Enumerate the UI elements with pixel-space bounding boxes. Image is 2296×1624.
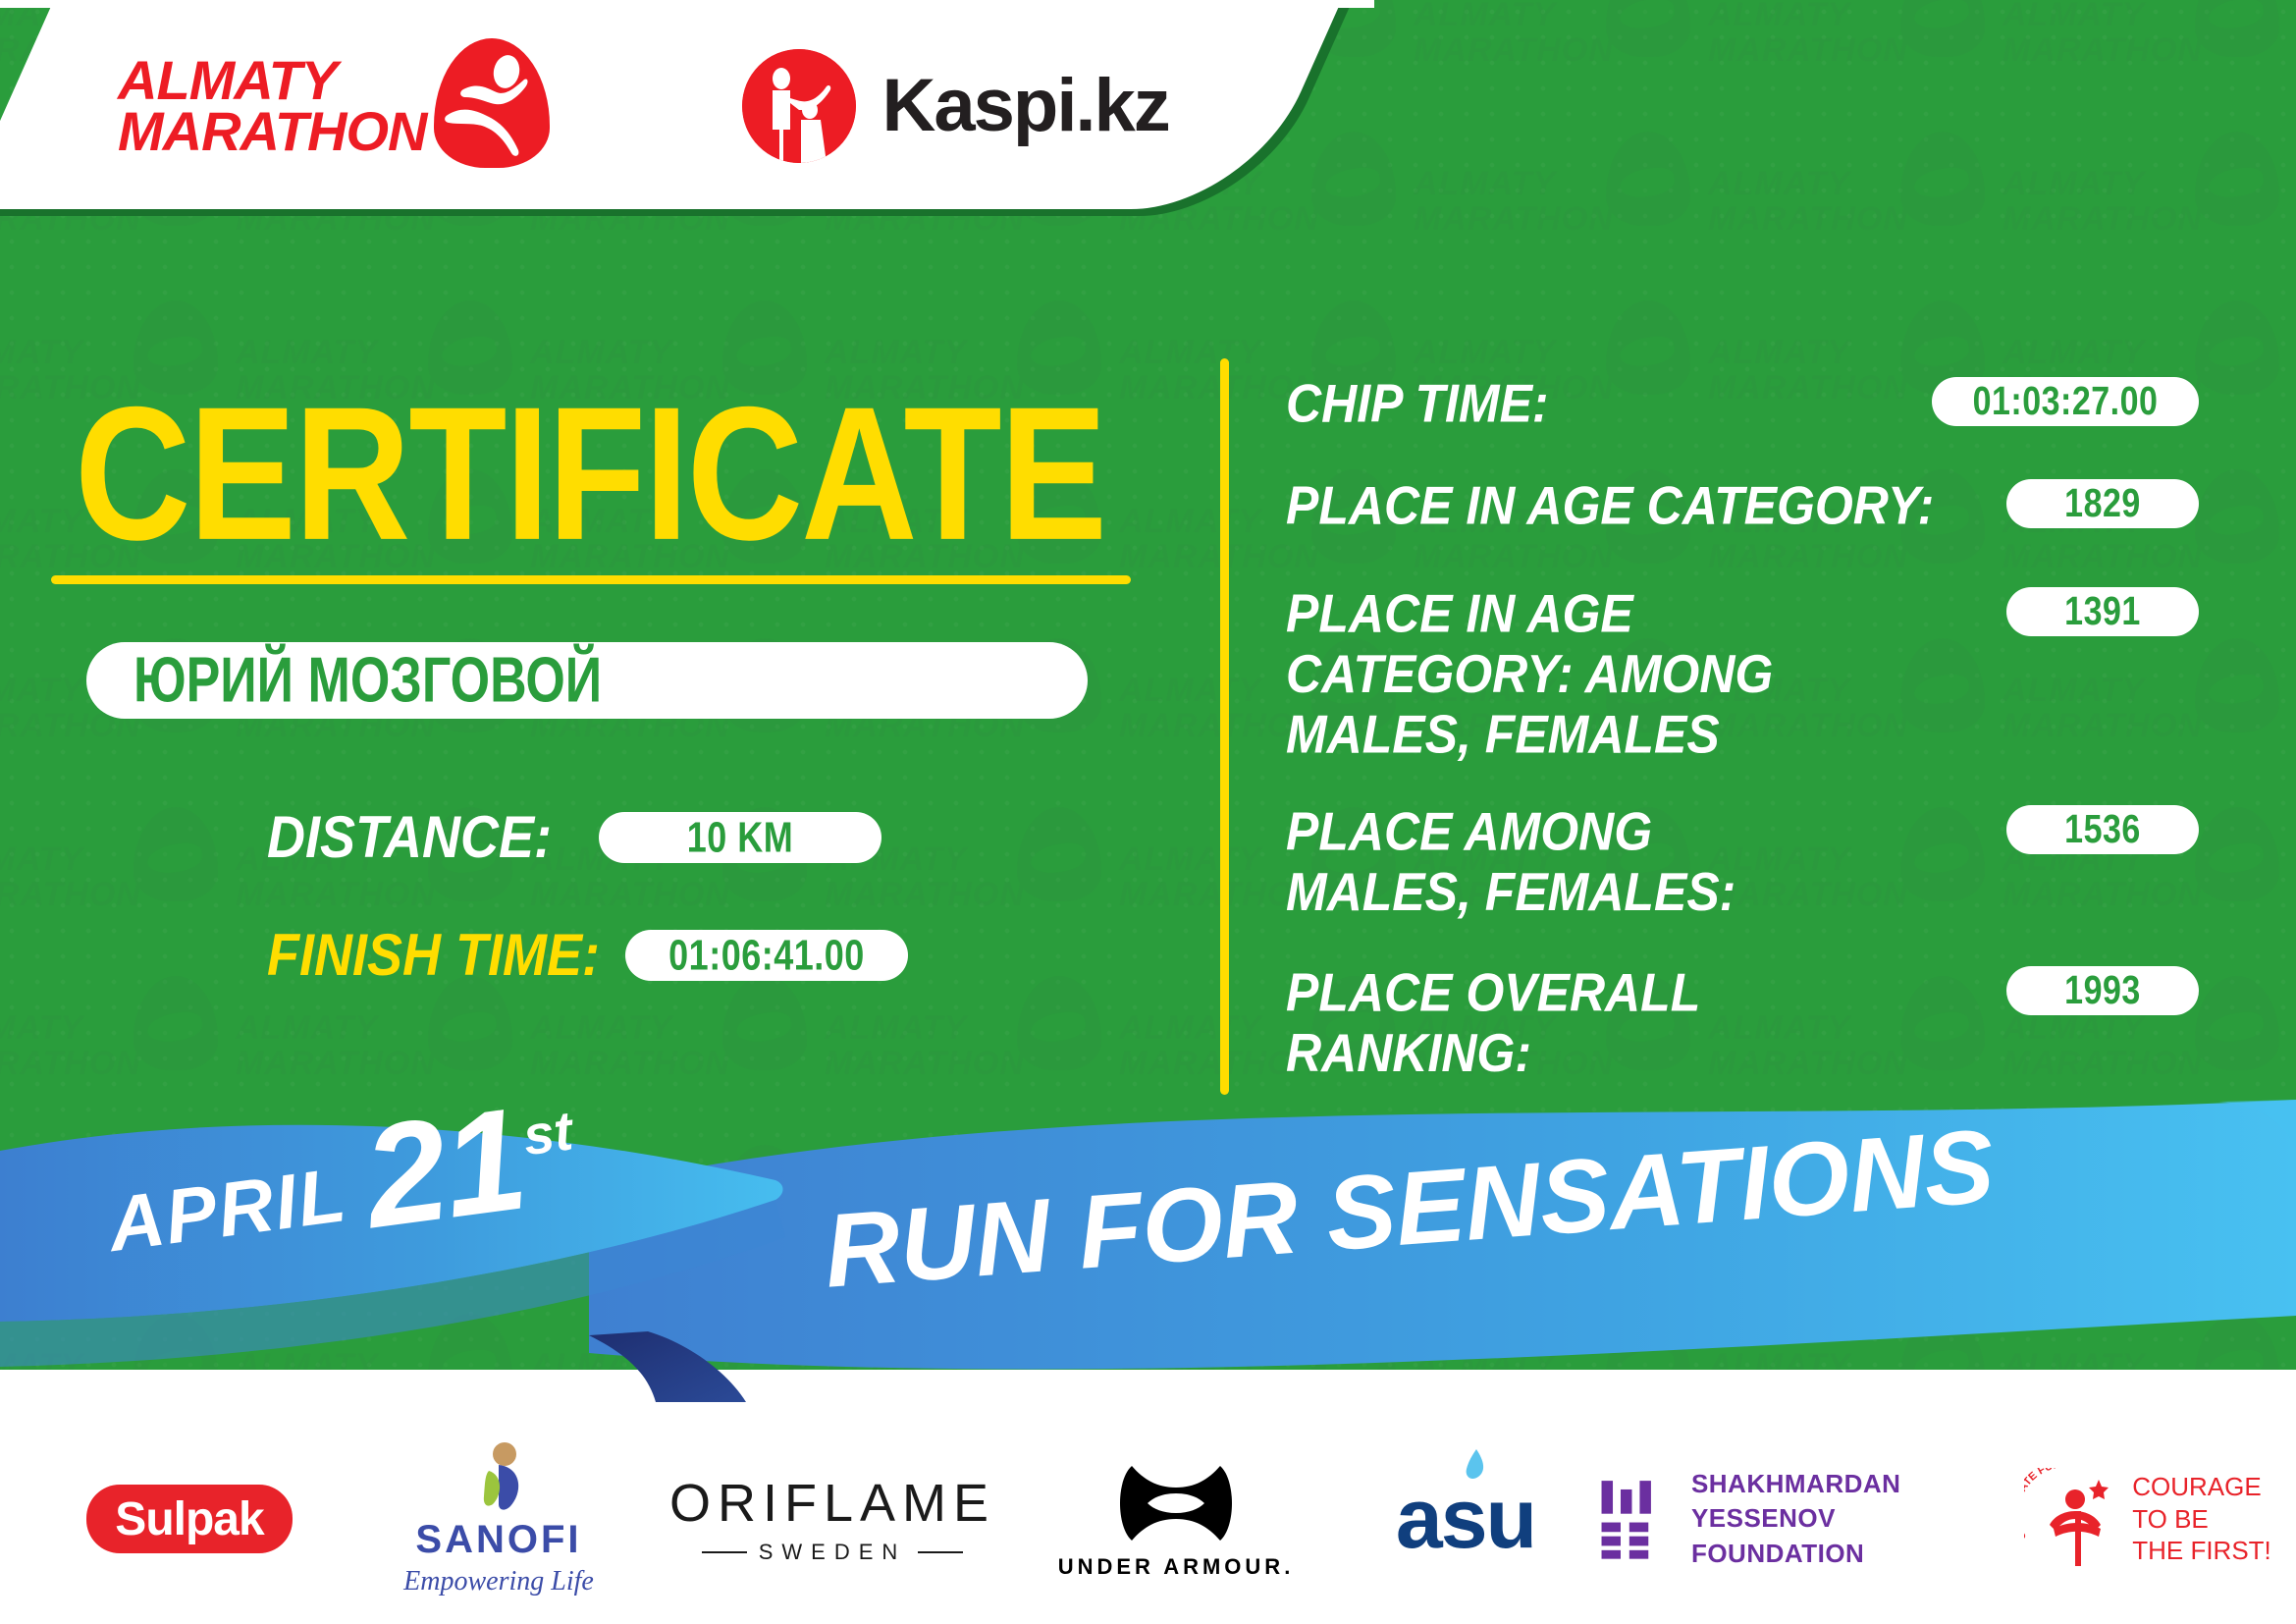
kaspi-logo: Kaspi.kz	[742, 49, 1168, 163]
sanofi-logo: SANOFI Empowering Life	[403, 1441, 594, 1597]
watermark-tile: ALMATYMARATHON	[1708, 130, 2002, 277]
sponsor-sulpak: Sulpak	[27, 1485, 351, 1553]
place-among-gender-label: PLACE AMONG MALES, FEMALES:	[1286, 801, 1836, 922]
watermark-tile: ALMATYMARATHON	[0, 805, 236, 952]
watermark-tile: ALMATYMARATHON	[1414, 130, 1708, 277]
watermark-line1: ALMATY	[1119, 840, 1261, 879]
under-armour-icon	[1102, 1458, 1250, 1548]
watermark-line2: MARATHON	[2002, 200, 2203, 239]
sponsor-courage-fund: CORPORATE FUND COURAGE TO BE THE FIRST!	[2010, 1468, 2285, 1570]
watermark-line1: ALMATY	[1119, 1009, 1261, 1048]
watermark-line1: ALMATY	[0, 334, 83, 372]
distance-value-pill: 10 KM	[599, 812, 881, 863]
watermark-drop-icon	[133, 976, 218, 1070]
chip-time-value-pill: 01:03:27.00	[1932, 377, 2199, 426]
watermark-tile: ALMATYMARATHON	[2002, 0, 2296, 108]
almaty-marathon-line1: ALMATY	[118, 55, 426, 106]
distance-label: DISTANCE:	[267, 803, 552, 871]
certificate-page: ALMATYMARATHONALMATYMARATHONALMATYMARATH…	[0, 0, 2296, 1624]
watermark-line1: ALMATY	[236, 334, 378, 372]
watermark-line2: MARATHON	[530, 1045, 730, 1083]
watermark-line1: ALMATY	[1708, 0, 1850, 34]
title-underline	[51, 575, 1131, 584]
yessenov-foundation-logo: SHAKHMARDAN YESSENOV FOUNDATION	[1598, 1467, 2010, 1570]
watermark-drop-icon	[428, 976, 512, 1070]
oriflame-rule-left	[702, 1551, 747, 1553]
watermark-drop-icon	[1900, 0, 1985, 57]
asu-wordmark: asu	[1396, 1471, 1535, 1568]
stat-row: PLACE IN AGE CATEGORY: 1829	[1286, 475, 2199, 530]
ribbon-day: 21	[357, 1093, 531, 1243]
place-overall-value-pill: 1993	[2006, 966, 2199, 1015]
sponsor-asu: asu	[1333, 1471, 1598, 1568]
watermark-drop-icon	[2195, 300, 2279, 395]
page-title: CERTIFICATE	[75, 379, 1105, 569]
stat-row: CHIP TIME: 01:03:27.00	[1286, 373, 2199, 428]
watermark-drop-icon	[722, 976, 807, 1070]
watermark-line2: MARATHON	[825, 1045, 1025, 1083]
watermark-line1: ALMATY	[1708, 334, 1850, 372]
distance-value: 10 KM	[687, 813, 794, 862]
stat-row: PLACE IN AGE CATEGORY: AMONG MALES, FEMA…	[1286, 583, 2199, 748]
finish-time-row: FINISH TIME: 01:06:41.00	[267, 925, 908, 986]
watermark-line1: ALMATY	[1708, 165, 1850, 203]
place-among-gender-value-pill: 1536	[2006, 805, 2199, 854]
yessenov-wordmark: SHAKHMARDAN YESSENOV FOUNDATION	[1691, 1467, 2010, 1570]
watermark-line1: ALMATY	[1119, 334, 1261, 372]
watermark-line2: MARATHON	[236, 876, 436, 914]
watermark-line1: ALMATY	[1414, 334, 1556, 372]
column-divider	[1220, 358, 1229, 1095]
watermark-line2: MARATHON	[1414, 31, 1614, 70]
sponsor-under-armour: UNDER ARMOUR.	[1019, 1458, 1333, 1580]
watermark-line1: ALMATY	[0, 503, 83, 541]
place-age-category-gender-value-pill: 1391	[2006, 587, 2199, 636]
finish-time-label: FINISH TIME:	[267, 921, 600, 989]
courage-line1: COURAGE	[2132, 1471, 2271, 1503]
watermark-drop-icon	[2195, 976, 2279, 1070]
watermark-line1: ALMATY	[0, 840, 83, 879]
watermark-drop-icon	[1017, 976, 1101, 1070]
watermark-line2: MARATHON	[0, 876, 141, 914]
watermark-drop-icon	[2195, 807, 2279, 901]
oriflame-wordmark: ORIFLAME	[669, 1473, 995, 1534]
watermark-line1: ALMATY	[2002, 0, 2145, 34]
watermark-drop-icon	[1017, 807, 1101, 901]
place-age-category-value-pill: 1829	[2006, 479, 2199, 528]
watermark-line1: ALMATY	[0, 1009, 83, 1048]
watermark-drop-icon	[2195, 469, 2279, 564]
watermark-tile: ALMATYMARATHON	[1708, 0, 2002, 108]
watermark-drop-icon	[1606, 0, 1690, 57]
watermark-line1: ALMATY	[825, 1009, 967, 1048]
watermark-line1: ALMATY	[530, 1009, 672, 1048]
sponsor-bar: Sulpak SANOFI Empowering Life ORIFLAME S…	[0, 1414, 2296, 1624]
watermark-line1: ALMATY	[1414, 165, 1556, 203]
athlete-name-value: ЮРИЙ МОЗГОВОЙ	[133, 644, 602, 718]
yessenov-line1: SHAKHMARDAN YESSENOV	[1691, 1467, 2010, 1536]
sponsor-sanofi: SANOFI Empowering Life	[351, 1441, 646, 1597]
watermark-drop-icon	[133, 807, 218, 901]
watermark-line2: MARATHON	[0, 1045, 141, 1083]
oriflame-sub: SWEDEN	[702, 1540, 964, 1565]
sanofi-wordmark: SANOFI	[415, 1518, 581, 1562]
watermark-line2: MARATHON	[825, 876, 1025, 914]
yessenov-line2: FOUNDATION	[1691, 1537, 2010, 1571]
oriflame-rule-right	[918, 1551, 963, 1553]
watermark-line2: MARATHON	[236, 1045, 436, 1083]
watermark-line1: ALMATY	[236, 1009, 378, 1048]
courage-fund-icon: CORPORATE FUND	[2024, 1468, 2118, 1570]
watermark-drop-icon	[2195, 638, 2279, 732]
watermark-drop-icon	[1311, 132, 1396, 226]
watermark-drop-icon	[2195, 0, 2279, 57]
watermark-line1: ALMATY	[2002, 165, 2145, 203]
place-among-gender-value: 1536	[2064, 807, 2141, 853]
sanofi-tagline: Empowering Life	[403, 1566, 594, 1597]
asu-droplet-icon	[1459, 1449, 1488, 1483]
watermark-line2: MARATHON	[1414, 200, 1614, 239]
courage-fund-wordmark: COURAGE TO BE THE FIRST!	[2132, 1471, 2271, 1567]
courage-line2: TO BE	[2132, 1503, 2271, 1536]
stat-row: PLACE OVERALL RANKING: 1993	[1286, 962, 2199, 1072]
distance-row: DISTANCE: 10 KM	[267, 807, 881, 868]
yessenov-bars-icon	[1598, 1474, 1666, 1564]
asu-logo: asu	[1396, 1471, 1535, 1568]
athlete-name-field: ЮРИЙ МОЗГОВОЙ	[86, 642, 1088, 719]
watermark-line1: ALMATY	[825, 334, 967, 372]
watermark-line2: MARATHON	[2002, 31, 2203, 70]
finish-time-value-pill: 01:06:41.00	[625, 930, 908, 981]
almaty-marathon-line2: MARATHON	[118, 106, 426, 157]
sponsor-yessenov: SHAKHMARDAN YESSENOV FOUNDATION	[1598, 1467, 2010, 1570]
watermark-drop-icon	[1606, 132, 1690, 226]
watermark-line1: ALMATY	[530, 334, 672, 372]
place-age-category-gender-value: 1391	[2064, 589, 2141, 635]
watermark-line2: MARATHON	[530, 876, 730, 914]
place-age-category-label: PLACE IN AGE CATEGORY:	[1286, 475, 1934, 536]
under-armour-wordmark: UNDER ARMOUR.	[1058, 1554, 1295, 1580]
watermark-line1: ALMATY	[0, 672, 83, 710]
ribbon-ordinal: st	[519, 1098, 576, 1167]
courage-line3: THE FIRST!	[2132, 1535, 2271, 1567]
running-person-drop-icon	[434, 38, 550, 168]
chip-time-value: 01:03:27.00	[1973, 379, 2159, 425]
header-content: ALMATY MARATHON	[0, 0, 1178, 211]
courage-fund-logo: CORPORATE FUND COURAGE TO BE THE FIRST!	[2024, 1468, 2271, 1570]
under-armour-logo: UNDER ARMOUR.	[1058, 1458, 1295, 1580]
kaspi-people-circle-icon	[742, 49, 856, 163]
almaty-marathon-wordmark: ALMATY MARATHON	[118, 55, 426, 156]
almaty-marathon-logo: ALMATY MARATHON	[118, 38, 550, 174]
finish-time-value: 01:06:41.00	[668, 931, 865, 980]
watermark-line1: ALMATY	[2002, 334, 2145, 372]
chip-time-label: CHIP TIME:	[1286, 373, 1549, 434]
watermark-line2: MARATHON	[1708, 200, 1908, 239]
oriflame-logo: ORIFLAME SWEDEN	[669, 1473, 995, 1565]
watermark-line1: ALMATY	[1119, 503, 1261, 541]
place-age-category-value: 1829	[2064, 481, 2141, 527]
stats-list: CHIP TIME: 01:03:27.00 PLACE IN AGE CATE…	[1286, 373, 2199, 1072]
place-overall-value: 1993	[2064, 968, 2141, 1014]
oriflame-tagline: SWEDEN	[759, 1540, 907, 1565]
sulpak-logo: Sulpak	[86, 1485, 293, 1553]
watermark-line2: MARATHON	[1708, 31, 1908, 70]
watermark-drop-icon	[2195, 132, 2279, 226]
watermark-drop-icon	[1900, 132, 1985, 226]
kaspi-wordmark: Kaspi.kz	[881, 63, 1168, 148]
sanofi-bird-icon	[459, 1441, 538, 1514]
stat-row: PLACE AMONG MALES, FEMALES: 1536	[1286, 801, 2199, 911]
place-overall-label: PLACE OVERALL RANKING:	[1286, 962, 1953, 1083]
watermark-tile: ALMATYMARATHON	[1414, 0, 1708, 108]
place-age-category-gender-label: PLACE IN AGE CATEGORY: AMONG MALES, FEMA…	[1286, 583, 1895, 765]
watermark-line1: ALMATY	[1414, 0, 1556, 34]
watermark-line1: ALMATY	[1119, 672, 1261, 710]
watermark-tile: ALMATYMARATHON	[2002, 130, 2296, 277]
sponsor-oriflame: ORIFLAME SWEDEN	[646, 1473, 1019, 1565]
